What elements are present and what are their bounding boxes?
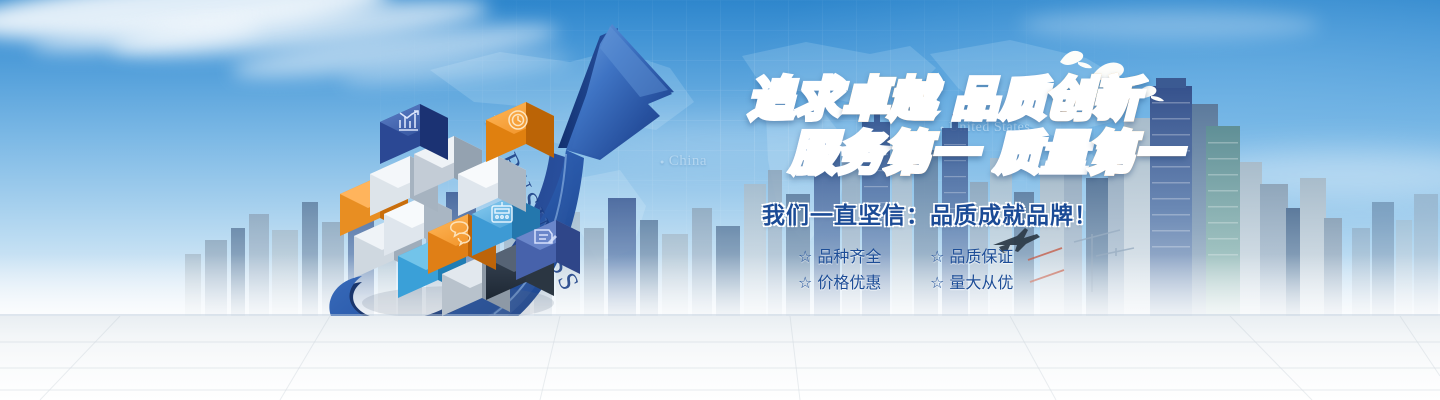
feature-list: ☆ 品种齐全 ☆ 品质保证 ☆ 价格优惠 ☆ 量大从优	[798, 244, 1062, 296]
feature-label: 量大从优	[949, 270, 1013, 296]
headline-segment-orange: 第一	[1088, 126, 1182, 180]
feature-item: ☆ 品种齐全	[798, 244, 930, 270]
feature-label: 价格优惠	[817, 270, 881, 296]
promotional-banner: Europe United States China	[0, 0, 1440, 400]
star-outline-icon: ☆	[930, 244, 944, 270]
headline-segment-orange: 第一	[884, 126, 978, 180]
headline-segment-blue: 服务	[790, 126, 884, 180]
headline-segment-blue: 质量	[994, 126, 1088, 180]
feature-item: ☆ 价格优惠	[798, 270, 930, 296]
headline-segment-orange: 卓越	[842, 72, 936, 126]
banner-subtitle: 我们一直坚信：品质成就品牌！	[660, 196, 1200, 230]
headline-segment-blue: 品质	[952, 72, 1046, 126]
plaza-floor	[0, 316, 1440, 400]
headline-segment-blue: 追求	[748, 72, 842, 126]
star-outline-icon: ☆	[930, 270, 944, 296]
banner-copy: 追求卓越品质创新 服务第一质量第一 我们一直坚信：品质成就品牌！ ☆ 品种齐全 …	[660, 72, 1200, 296]
feature-label: 品质保证	[949, 244, 1013, 270]
headline-line-2: 服务第一质量第一	[772, 126, 1200, 180]
headline-segment-orange: 创新	[1046, 72, 1140, 126]
feature-label: 品种齐全	[817, 244, 881, 270]
feature-item: ☆ 品质保证	[930, 244, 1062, 270]
feature-item: ☆ 量大从优	[930, 270, 1062, 296]
plaza-grid-lines	[0, 316, 1440, 400]
rubiks-cube-graphic	[318, 98, 588, 328]
headline-line-1: 追求卓越品质创新	[688, 72, 1200, 126]
star-outline-icon: ☆	[798, 244, 812, 270]
star-outline-icon: ☆	[798, 270, 812, 296]
